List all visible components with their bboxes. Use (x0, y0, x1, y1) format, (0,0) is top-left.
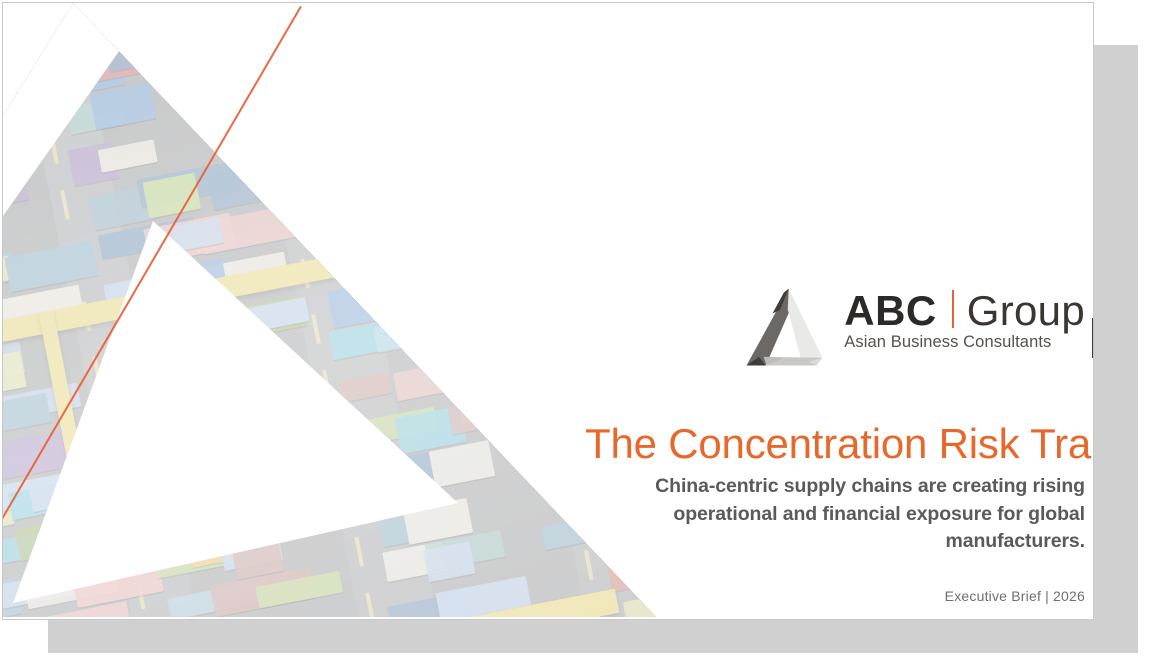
page-title: The Concentration Risk Trap (585, 421, 1085, 466)
port-photo-panel (3, 3, 658, 619)
company-logo: ABC Group Asian Business Consultants (734, 281, 1085, 377)
presentation-slide: ABC Group Asian Business Consultants The… (2, 2, 1094, 620)
logo-end-tick-icon (1092, 318, 1094, 358)
logo-wordmark: ABC Group Asian Business Consultants (844, 281, 1085, 352)
slide-content-column: ABC Group Asian Business Consultants The… (565, 3, 1085, 619)
slide-footer: Executive Brief | 2026 (595, 588, 1085, 604)
slide-stage: ABC Group Asian Business Consultants The… (0, 0, 1154, 669)
logo-tagline: Asian Business Consultants (844, 333, 1085, 352)
logo-group-text: Group (967, 290, 1085, 332)
abc-group-triangle-icon (734, 281, 830, 377)
logo-primary-row: ABC Group (844, 287, 1085, 332)
logo-abc-text: ABC (844, 290, 937, 332)
logo-divider-icon (952, 290, 954, 328)
slide-subtitle: China-centric supply chains are creating… (595, 473, 1085, 556)
